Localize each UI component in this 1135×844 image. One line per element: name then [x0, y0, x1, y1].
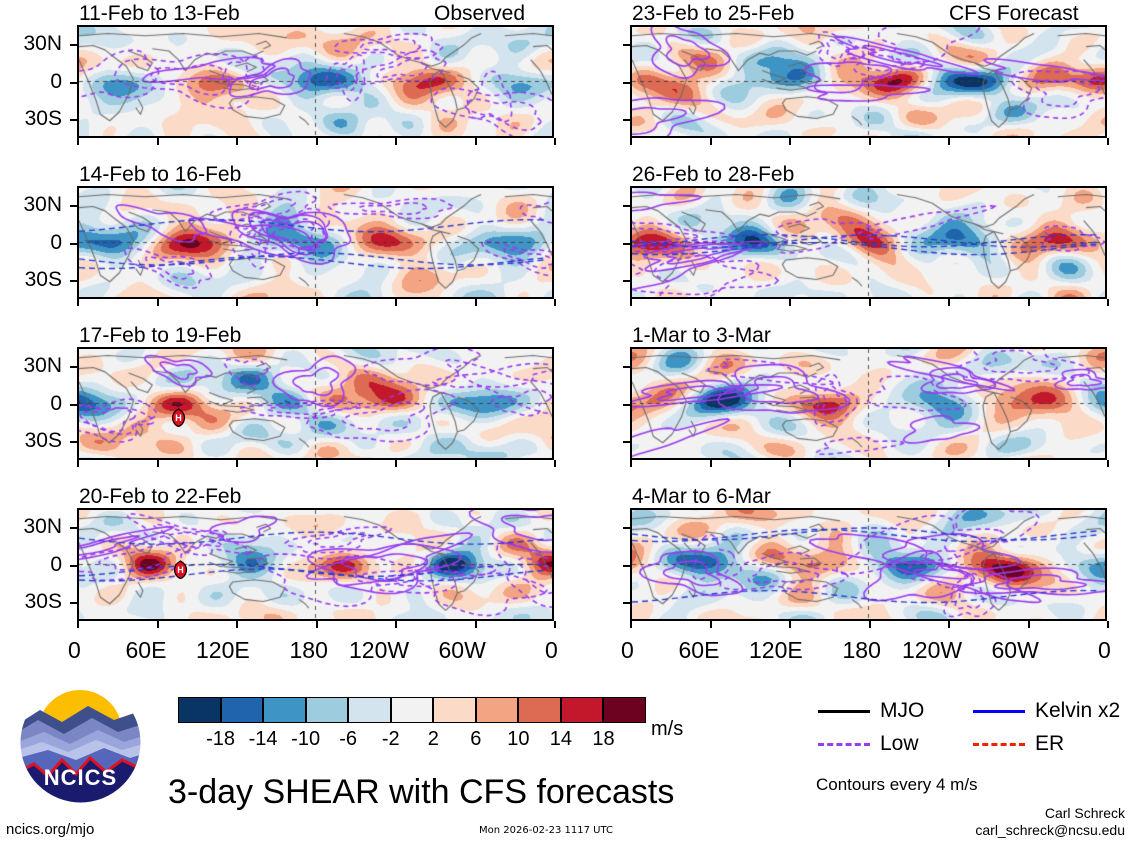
colorbar-tick-label: -10 — [284, 729, 328, 749]
y-tick — [623, 565, 631, 567]
colorbar-swatch — [433, 697, 476, 723]
y-tick — [70, 565, 78, 567]
colorbar-swatch — [476, 697, 519, 723]
colorbar-tick-label: 14 — [539, 729, 583, 749]
y-axis-tick-label: 0 — [0, 232, 62, 253]
map-panel[interactable] — [630, 186, 1107, 299]
colorbar-swatch — [561, 697, 604, 723]
x-axis-tick-label: 120E — [196, 639, 250, 662]
y-tick — [70, 119, 78, 121]
colorbar-swatch — [391, 697, 434, 723]
x-tick — [475, 460, 477, 467]
x-tick — [1028, 138, 1030, 145]
y-tick — [70, 82, 78, 84]
x-tick — [948, 460, 950, 467]
x-tick — [77, 621, 79, 628]
y-tick — [623, 366, 631, 368]
x-tick — [236, 621, 238, 628]
x-tick — [157, 460, 159, 467]
x-axis-tick-label: 0 — [68, 639, 81, 662]
y-tick — [623, 44, 631, 46]
x-tick — [630, 138, 632, 145]
map-panel[interactable] — [77, 186, 554, 299]
y-tick — [70, 44, 78, 46]
colorbar — [178, 697, 646, 723]
x-tick — [475, 138, 477, 145]
x-tick — [236, 460, 238, 467]
x-axis-tick-label: 120W — [902, 639, 962, 662]
shear-anomaly-shading — [632, 188, 1105, 297]
svg-text:H: H — [177, 565, 184, 575]
x-tick — [710, 621, 712, 628]
colorbar-tick-label: 18 — [581, 729, 625, 749]
x-tick — [554, 460, 556, 467]
x-tick — [554, 621, 556, 628]
x-tick — [630, 460, 632, 467]
x-tick — [869, 621, 871, 628]
colorbar-tick-label: -18 — [199, 729, 243, 749]
y-tick — [70, 205, 78, 207]
svg-text:H: H — [175, 413, 182, 423]
colorbar-swatch — [263, 697, 306, 723]
site-url[interactable]: ncics.org/mjo — [6, 822, 94, 837]
x-tick — [869, 299, 871, 306]
shear-anomaly-shading — [632, 510, 1105, 619]
legend-label: MJO — [880, 700, 924, 721]
colorbar-tick-label: -2 — [369, 729, 413, 749]
y-tick — [623, 82, 631, 84]
legend-swatch-mjo — [818, 710, 870, 713]
colorbar-swatch — [221, 697, 264, 723]
x-tick — [157, 138, 159, 145]
panel-title: 11-Feb to 13-Feb — [79, 3, 240, 24]
y-tick — [70, 366, 78, 368]
x-axis-tick-label: 60E — [126, 639, 167, 662]
y-tick — [623, 243, 631, 245]
colorbar-tick-label: 2 — [411, 729, 455, 749]
x-tick — [554, 299, 556, 306]
x-tick — [77, 138, 79, 145]
map-panel[interactable] — [630, 25, 1107, 138]
x-tick — [789, 460, 791, 467]
legend-label: Kelvin x2 — [1035, 700, 1120, 721]
legend-label: Low — [880, 733, 919, 754]
x-tick — [1107, 621, 1109, 628]
x-axis-tick-label: 60W — [992, 639, 1039, 662]
generated-timestamp: Mon 2026-02-23 1117 UTC — [479, 826, 613, 836]
x-tick — [1107, 138, 1109, 145]
x-tick — [710, 138, 712, 145]
x-tick — [1028, 299, 1030, 306]
shear-anomaly-shading — [79, 188, 552, 297]
panel-title: 23-Feb to 25-Feb — [632, 3, 794, 24]
tropical-cyclone-icon: H — [171, 408, 186, 432]
y-axis-tick-label: 30N — [0, 194, 62, 215]
y-tick — [623, 280, 631, 282]
x-tick — [554, 138, 556, 145]
panel-title: 4-Mar to 6-Mar — [632, 486, 771, 507]
y-axis-tick-label: 30S — [0, 269, 62, 290]
units-label: m/s — [651, 719, 683, 739]
y-tick — [70, 404, 78, 406]
x-axis-tick-label: 60W — [439, 639, 486, 662]
y-axis-tick-label: 30S — [0, 591, 62, 612]
x-tick — [475, 299, 477, 306]
y-axis-tick-label: 30N — [0, 355, 62, 376]
colorbar-swatch — [603, 697, 646, 723]
x-tick — [710, 460, 712, 467]
x-axis-tick-label: 0 — [621, 639, 634, 662]
tropical-cyclone-icon: H — [173, 560, 188, 584]
y-tick — [623, 205, 631, 207]
y-axis-tick-label: 30N — [0, 516, 62, 537]
x-axis-tick-label: 180 — [843, 639, 881, 662]
x-tick — [395, 299, 397, 306]
y-tick — [623, 404, 631, 406]
x-tick — [157, 621, 159, 628]
x-tick — [869, 138, 871, 145]
x-tick — [948, 621, 950, 628]
y-axis-tick-label: 0 — [0, 71, 62, 92]
y-tick — [70, 441, 78, 443]
x-axis-tick-label: 0 — [1098, 639, 1111, 662]
x-axis-tick-label: 120W — [349, 639, 409, 662]
x-tick — [395, 621, 397, 628]
x-tick — [789, 138, 791, 145]
shear-anomaly-shading — [79, 510, 552, 619]
legend-label: ER — [1035, 733, 1064, 754]
legend-swatch-er — [973, 743, 1025, 746]
x-tick — [316, 460, 318, 467]
y-tick — [623, 527, 631, 529]
y-axis-tick-label: 30N — [0, 33, 62, 54]
x-tick — [710, 299, 712, 306]
observed-label: Observed — [434, 3, 525, 24]
x-tick — [948, 299, 950, 306]
x-tick — [236, 299, 238, 306]
contour-interval-note: Contours every 4 m/s — [816, 776, 978, 793]
x-tick — [236, 138, 238, 145]
author-email: carl_schreck@ncsu.edu — [880, 823, 1125, 837]
panel-title: 14-Feb to 16-Feb — [79, 164, 241, 185]
colorbar-swatch — [178, 697, 221, 723]
x-tick — [630, 299, 632, 306]
map-panel[interactable] — [630, 508, 1107, 621]
ncics-logo-text: NCICS — [18, 765, 143, 791]
x-tick — [1028, 621, 1030, 628]
x-tick — [77, 299, 79, 306]
x-tick — [316, 299, 318, 306]
colorbar-swatch — [518, 697, 561, 723]
y-tick — [623, 119, 631, 121]
x-tick — [1107, 299, 1109, 306]
colorbar-tick-label: 6 — [454, 729, 498, 749]
x-tick — [395, 460, 397, 467]
y-tick — [70, 280, 78, 282]
y-tick — [70, 243, 78, 245]
author-name: Carl Schreck — [900, 806, 1125, 820]
legend-swatch-kelvin-x2 — [973, 710, 1025, 713]
shear-anomaly-shading — [632, 27, 1105, 136]
x-tick — [1107, 460, 1109, 467]
map-panel[interactable] — [77, 508, 554, 621]
panel-title: 20-Feb to 22-Feb — [79, 486, 241, 507]
x-axis-tick-label: 0 — [545, 639, 558, 662]
x-axis-tick-label: 120E — [749, 639, 803, 662]
y-tick — [623, 441, 631, 443]
x-tick — [316, 621, 318, 628]
ncics-logo[interactable]: NCICS — [18, 680, 143, 805]
x-tick — [475, 621, 477, 628]
main-title: 3-day SHEAR with CFS forecasts — [168, 775, 674, 809]
colorbar-swatch — [306, 697, 349, 723]
y-axis-tick-label: 30S — [0, 430, 62, 451]
map-panel[interactable] — [77, 25, 554, 138]
x-tick — [789, 299, 791, 306]
colorbar-tick-label: -14 — [241, 729, 285, 749]
shear-anomaly-shading — [79, 27, 552, 136]
y-axis-tick-label: 0 — [0, 554, 62, 575]
x-tick — [395, 138, 397, 145]
y-tick — [70, 602, 78, 604]
y-tick — [623, 602, 631, 604]
legend-swatch-low — [818, 743, 870, 746]
colorbar-tick-label: -6 — [326, 729, 370, 749]
x-tick — [948, 138, 950, 145]
x-tick — [630, 621, 632, 628]
x-axis-tick-label: 180 — [290, 639, 328, 662]
x-axis-tick-label: 60E — [679, 639, 720, 662]
x-tick — [157, 299, 159, 306]
x-tick — [869, 460, 871, 467]
x-tick — [789, 621, 791, 628]
shear-anomaly-shading — [632, 349, 1105, 458]
panel-title: 26-Feb to 28-Feb — [632, 164, 794, 185]
panel-title: 1-Mar to 3-Mar — [632, 325, 771, 346]
panel-title: 17-Feb to 19-Feb — [79, 325, 241, 346]
x-tick — [1028, 460, 1030, 467]
y-axis-tick-label: 30S — [0, 108, 62, 129]
map-panel[interactable] — [77, 347, 554, 460]
y-axis-tick-label: 0 — [0, 393, 62, 414]
cfs-forecast-label: CFS Forecast — [949, 3, 1079, 24]
x-tick — [316, 138, 318, 145]
colorbar-swatch — [348, 697, 391, 723]
colorbar-tick-label: 10 — [496, 729, 540, 749]
x-tick — [77, 460, 79, 467]
shear-anomaly-shading — [79, 349, 552, 458]
y-tick — [70, 527, 78, 529]
map-panel[interactable] — [630, 347, 1107, 460]
